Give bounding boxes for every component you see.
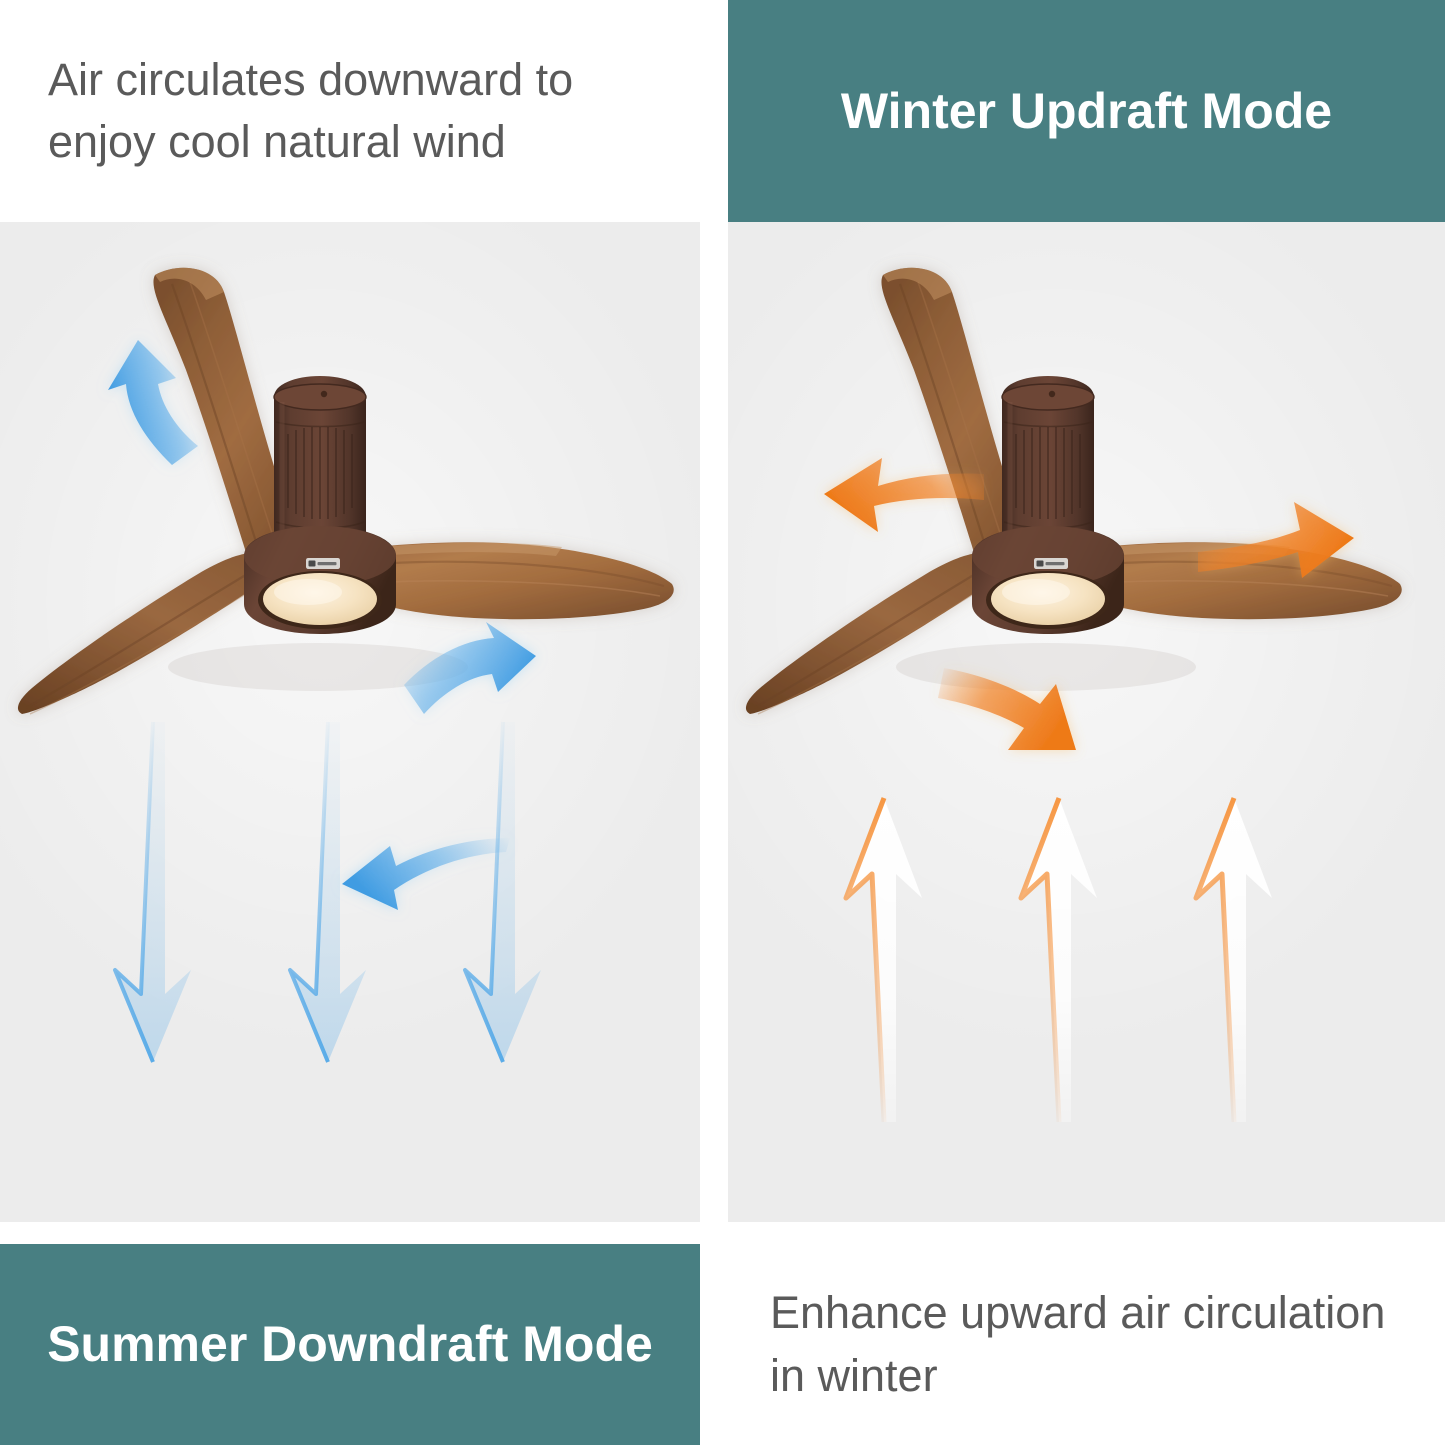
updraft-arrow-group <box>728 782 1445 1182</box>
airflow-modes-infographic: Air circulates downward to enjoy cool na… <box>0 0 1445 1445</box>
downdraft-arrow-group <box>0 722 700 1122</box>
left-header: Air circulates downward to enjoy cool na… <box>0 0 700 222</box>
summer-radial-arrow-group <box>0 222 700 782</box>
updraft-arrow <box>1021 798 1097 1122</box>
right-footer: Enhance upward air circulation in winter <box>728 1244 1445 1445</box>
winter-radial-arrow-group <box>728 222 1445 782</box>
updraft-arrow <box>846 798 922 1122</box>
airflow-arrow-right <box>1198 502 1354 578</box>
right-photo-stage <box>728 222 1445 1222</box>
panel-winter-updraft: Winter Updraft Mode <box>728 0 1445 1445</box>
left-header-text: Air circulates downward to enjoy cool na… <box>0 49 700 173</box>
right-header: Winter Updraft Mode <box>728 0 1445 222</box>
airflow-arrow-right <box>404 622 536 714</box>
panel-summer-downdraft: Air circulates downward to enjoy cool na… <box>0 0 700 1445</box>
right-footer-text: Enhance upward air circulation in winter <box>728 1282 1445 1406</box>
airflow-arrow-bottom <box>938 668 1076 750</box>
right-header-text: Winter Updraft Mode <box>728 80 1445 143</box>
left-footer-text: Summer Downdraft Mode <box>0 1313 700 1376</box>
airflow-arrow-left <box>108 340 198 465</box>
airflow-arrow-left <box>824 458 984 532</box>
left-footer: Summer Downdraft Mode <box>0 1244 700 1445</box>
updraft-arrow <box>1196 798 1272 1122</box>
left-photo-stage <box>0 222 700 1222</box>
